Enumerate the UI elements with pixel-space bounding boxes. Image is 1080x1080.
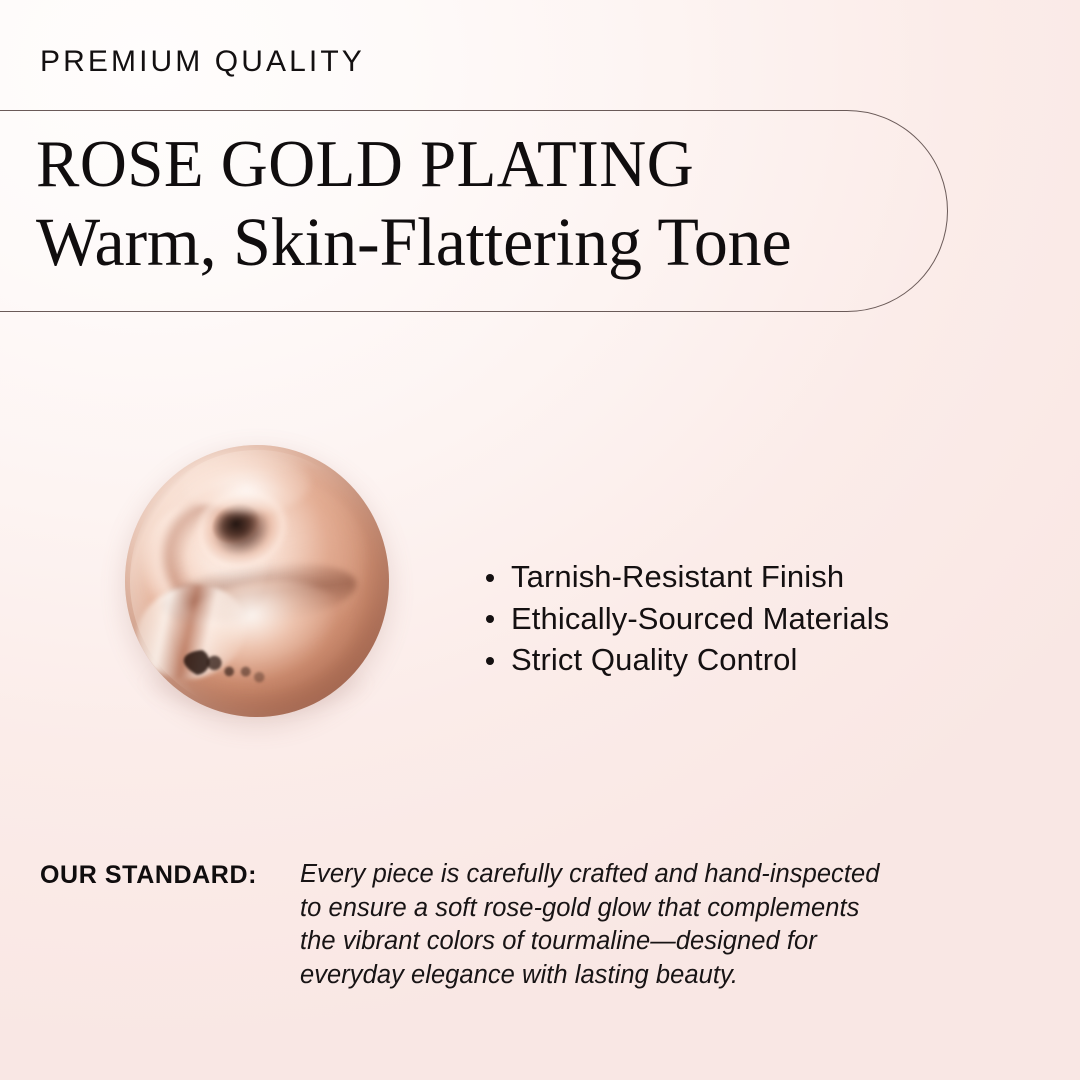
standard-body-line: Every piece is carefully crafted and han… bbox=[300, 858, 1020, 892]
sphere-top-specular bbox=[183, 453, 310, 513]
sphere-swirl-ring-outer bbox=[182, 474, 301, 585]
standard-body-line: the vibrant colors of tourmaline—designe… bbox=[300, 925, 1020, 959]
page-title: ROSE GOLD PLATING Warm, Skin-Flattering … bbox=[36, 126, 936, 282]
standard-label: OUR STANDARD: bbox=[40, 861, 257, 890]
standard-body: Every piece is carefully crafted and han… bbox=[300, 858, 1020, 992]
list-item: Tarnish-Resistant Finish bbox=[482, 556, 889, 598]
sphere-highlight-main bbox=[128, 453, 387, 681]
sphere-highlight-lower bbox=[166, 569, 359, 702]
bullet-dot-icon bbox=[486, 615, 494, 623]
rose-gold-sphere-icon bbox=[125, 445, 389, 717]
headline-line-1: ROSE GOLD PLATING bbox=[36, 126, 909, 202]
feature-list: Tarnish-Resistant Finish Ethically-Sourc… bbox=[482, 556, 889, 681]
sphere-shadow-band bbox=[159, 553, 360, 636]
list-item-label: Strict Quality Control bbox=[511, 642, 797, 677]
promo-card: PREMIUM QUALITY ROSE GOLD PLATING Warm, … bbox=[0, 0, 1080, 1080]
bullet-dot-icon bbox=[486, 657, 494, 665]
list-item: Ethically-Sourced Materials bbox=[482, 598, 889, 640]
eyebrow-label: PREMIUM QUALITY bbox=[40, 47, 365, 77]
sphere-rim-shading bbox=[130, 450, 383, 711]
list-item-label: Ethically-Sourced Materials bbox=[511, 601, 889, 636]
standard-body-line: to ensure a soft rose-gold glow that com… bbox=[300, 892, 1020, 926]
product-image bbox=[118, 438, 396, 728]
sphere-speckles bbox=[181, 643, 276, 694]
headline-line-2: Warm, Skin-Flattering Tone bbox=[36, 202, 923, 282]
sphere-swirl-ring-inner bbox=[207, 497, 265, 550]
standard-body-line: everyday elegance with lasting beauty. bbox=[300, 959, 1020, 993]
bullet-dot-icon bbox=[486, 574, 494, 582]
list-item-label: Tarnish-Resistant Finish bbox=[511, 559, 844, 594]
list-item: Strict Quality Control bbox=[482, 639, 889, 681]
sphere-fold-upper-left bbox=[125, 480, 294, 650]
